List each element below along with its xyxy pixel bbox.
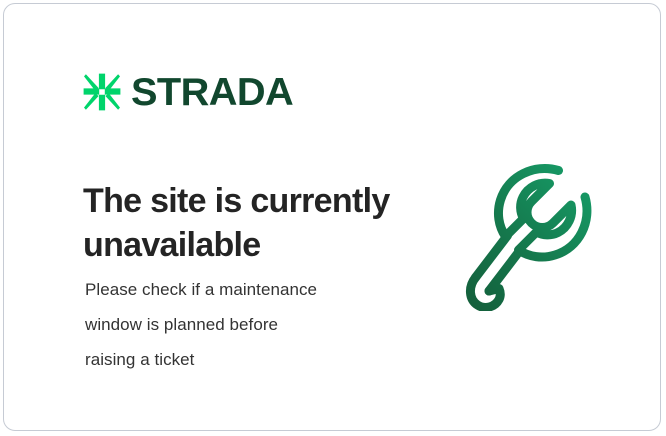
page-description: Please check if a maintenance window is …	[85, 272, 395, 377]
page-title: The site is currently unavailable	[83, 179, 413, 267]
description-line: raising a ticket	[85, 342, 395, 377]
wrench-icon	[463, 159, 613, 311]
brand-wordmark: STRADA	[131, 73, 293, 112]
page-root: STRADA The site is currently unavailable…	[0, 0, 666, 436]
description-line: Please check if a maintenance	[85, 272, 395, 307]
strada-asterisk-icon	[82, 72, 122, 112]
brand-lockup: STRADA	[82, 72, 290, 112]
description-line: window is planned before	[85, 307, 395, 342]
status-card: STRADA The site is currently unavailable…	[3, 3, 661, 431]
